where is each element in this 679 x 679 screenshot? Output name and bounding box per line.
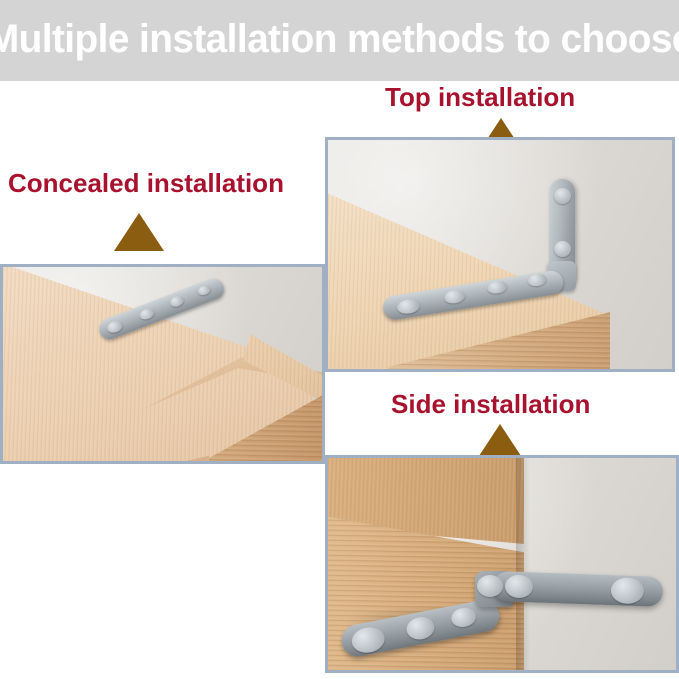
label-concealed-installation: Concealed installation [8, 170, 284, 196]
label-top-installation: Top installation [385, 84, 575, 110]
scene-concealed [3, 267, 322, 461]
photo-panel-side [325, 455, 679, 673]
cabinet-edge-shadow [516, 458, 530, 673]
header-banner: Multiple installation methods to choose [0, 0, 679, 81]
photo-panel-concealed [0, 264, 325, 464]
scene-side [328, 458, 676, 670]
scene-top [328, 140, 672, 369]
up-triangle-icon-concealed [114, 213, 164, 251]
label-side-installation: Side installation [391, 391, 590, 417]
photo-panel-top [325, 137, 675, 372]
page-title: Multiple installation methods to choose [0, 19, 679, 63]
